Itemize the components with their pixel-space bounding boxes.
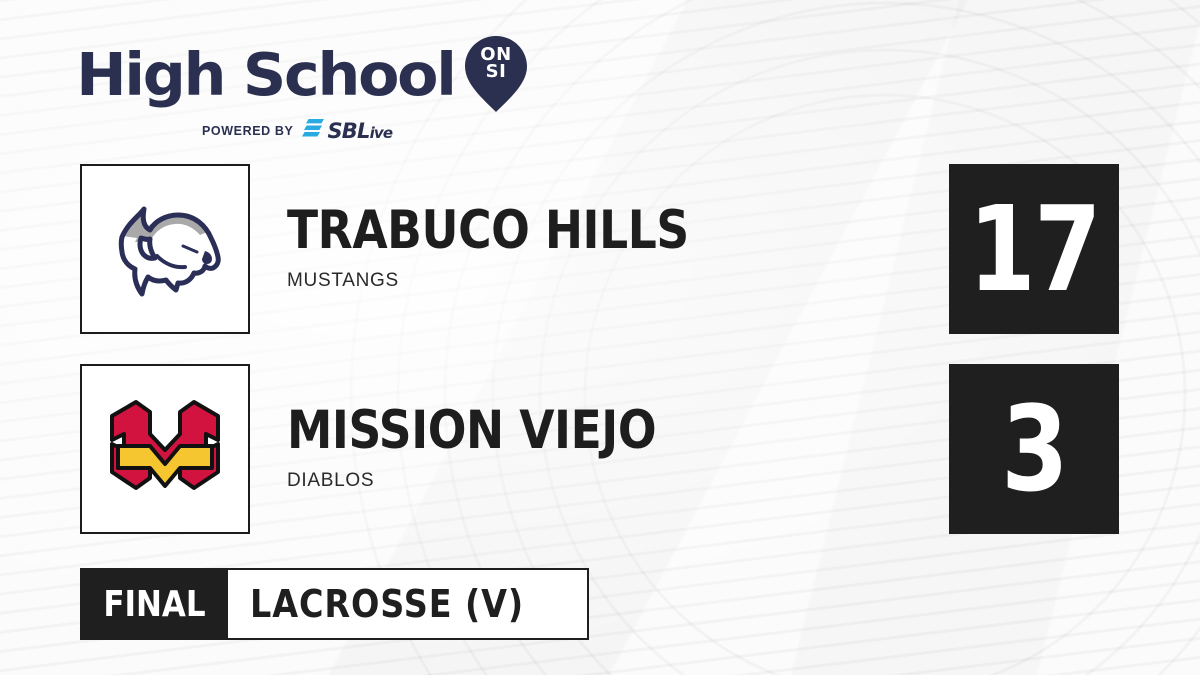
team-mascot: DIABLOS bbox=[287, 470, 716, 492]
sport-badge: LACROSSE (V) bbox=[228, 568, 589, 640]
team-row: MISSION VIEJO DIABLOS 3 bbox=[80, 364, 1120, 534]
team-text-block: TRABUCO HILLS MUSTANGS bbox=[287, 164, 754, 334]
sblive-wordmark: SBLive bbox=[327, 121, 392, 142]
sblive-word-suffix: ive bbox=[370, 124, 393, 142]
status-bar: FINAL LACROSSE (V) bbox=[80, 568, 589, 640]
team-name: MISSION VIEJO bbox=[287, 406, 656, 457]
mv-monogram-icon bbox=[106, 394, 224, 504]
team-score-box: 3 bbox=[949, 364, 1119, 534]
on-si-line-2: SI bbox=[486, 61, 507, 82]
game-state-label: FINAL bbox=[103, 584, 205, 625]
team-score: 17 bbox=[968, 190, 1099, 308]
team-logo-box bbox=[80, 164, 250, 334]
brand-wordmark-text: High School bbox=[76, 45, 454, 104]
game-state-badge: FINAL bbox=[80, 568, 228, 640]
team-mascot: MUSTANGS bbox=[287, 270, 754, 292]
sblive-logo: SBLive bbox=[302, 119, 392, 143]
sblive-s-mark-icon bbox=[302, 119, 324, 143]
team-logo-box bbox=[80, 364, 250, 534]
powered-by-row: POWERED BY SBLive bbox=[202, 119, 527, 143]
on-si-pin-label: ON SI bbox=[465, 46, 527, 80]
team-score-box: 17 bbox=[949, 164, 1119, 334]
scoreboard-graphic: High School ON SI POWERED BY bbox=[0, 0, 1200, 675]
sblive-word-main: SBL bbox=[327, 119, 369, 143]
sport-label: LACROSSE (V) bbox=[250, 582, 524, 626]
team-text-block: MISSION VIEJO DIABLOS bbox=[287, 364, 716, 534]
team-name: TRABUCO HILLS bbox=[287, 206, 689, 257]
team-row: TRABUCO HILLS MUSTANGS 17 bbox=[80, 164, 1120, 334]
on-si-pin-icon: ON SI bbox=[465, 36, 527, 112]
mustang-head-icon bbox=[105, 194, 225, 304]
brand-wordmark: High School ON SI bbox=[80, 36, 527, 112]
team-score: 3 bbox=[1001, 390, 1067, 508]
brand-header: High School ON SI POWERED BY bbox=[80, 36, 527, 143]
powered-by-label: POWERED BY bbox=[202, 124, 293, 138]
